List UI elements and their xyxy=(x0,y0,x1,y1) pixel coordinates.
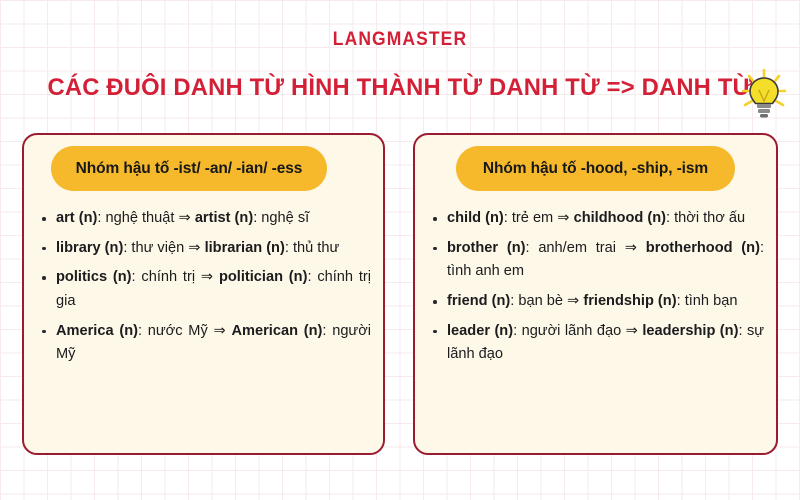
arrow-icon: ⇒ xyxy=(626,323,638,339)
source-meaning: anh/em trai xyxy=(538,240,616,256)
card-suffix-group-2: Nhóm hậu tố -hood, -ship, -ism child (n)… xyxy=(413,133,778,455)
derived-meaning: thời thơ ấu xyxy=(674,210,745,226)
derived-word: friendship (n) xyxy=(583,293,676,309)
source-word: politics (n) xyxy=(56,269,132,285)
list-item: friend (n): bạn bè ⇒ friendship (n): tìn… xyxy=(429,290,764,314)
card-heading: Nhóm hậu tố -hood, -ship, -ism xyxy=(456,146,735,191)
arrow-icon: ⇒ xyxy=(179,210,191,226)
source-meaning: trẻ em xyxy=(512,210,553,226)
derived-meaning: nghệ sĩ xyxy=(261,210,309,226)
list-item: child (n): trẻ em ⇒ childhood (n): thời … xyxy=(429,207,764,231)
word-list: child (n): trẻ em ⇒ childhood (n): thời … xyxy=(429,207,764,373)
derived-meaning: tình anh em xyxy=(447,263,524,279)
source-meaning: người lãnh đạo xyxy=(522,323,622,339)
derived-meaning: thủ thư xyxy=(293,240,339,256)
arrow-icon: ⇒ xyxy=(625,240,637,256)
source-word: America (n) xyxy=(56,323,138,339)
source-word: leader (n) xyxy=(447,323,513,339)
derived-word: artist (n) xyxy=(195,210,253,226)
source-word: library (n) xyxy=(56,240,123,256)
list-item: leader (n): người lãnh đạo ⇒ leadership … xyxy=(429,320,764,367)
source-meaning: chính trị xyxy=(141,269,195,285)
list-item: art (n): nghệ thuật ⇒ artist (n): nghệ s… xyxy=(38,207,371,231)
derived-word: librarian (n) xyxy=(205,240,285,256)
source-meaning: bạn bè xyxy=(518,293,563,309)
card-suffix-group-1: Nhóm hậu tố -ist/ -an/ -ian/ -ess art (n… xyxy=(22,133,385,455)
derived-word: childhood (n) xyxy=(574,210,666,226)
source-word: art (n) xyxy=(56,210,97,226)
list-item: brother (n): anh/em trai ⇒ brotherhood (… xyxy=(429,237,764,284)
card-heading: Nhóm hậu tố -ist/ -an/ -ian/ -ess xyxy=(51,146,327,191)
list-item: America (n): nước Mỹ ⇒ American (n): ngư… xyxy=(38,320,371,367)
source-word: brother (n) xyxy=(447,240,525,256)
arrow-icon: ⇒ xyxy=(201,269,213,285)
arrow-icon: ⇒ xyxy=(557,210,569,226)
arrow-icon: ⇒ xyxy=(567,293,579,309)
source-word: friend (n) xyxy=(447,293,510,309)
word-list: art (n): nghệ thuật ⇒ artist (n): nghệ s… xyxy=(38,207,371,373)
derived-word: leadership (n) xyxy=(642,323,738,339)
page-title: CÁC ĐUÔI DANH TỪ HÌNH THÀNH TỪ DANH TỪ =… xyxy=(12,74,788,102)
list-item: library (n): thư viện ⇒ librarian (n): t… xyxy=(38,237,371,261)
derived-word: politician (n) xyxy=(219,269,308,285)
brand-logo: LANGMASTER xyxy=(32,29,768,51)
source-meaning: nước Mỹ xyxy=(148,323,208,339)
arrow-icon: ⇒ xyxy=(188,240,200,256)
list-item: politics (n): chính trị ⇒ politician (n)… xyxy=(38,266,371,313)
lightbulb-icon xyxy=(733,62,795,124)
derived-word: brotherhood (n) xyxy=(646,240,760,256)
derived-meaning: tình bạn xyxy=(685,293,738,309)
source-meaning: thư viện xyxy=(131,240,184,256)
source-word: child (n) xyxy=(447,210,504,226)
arrow-icon: ⇒ xyxy=(214,323,226,339)
derived-word: American (n) xyxy=(231,323,322,339)
source-meaning: nghệ thuật xyxy=(105,210,174,226)
